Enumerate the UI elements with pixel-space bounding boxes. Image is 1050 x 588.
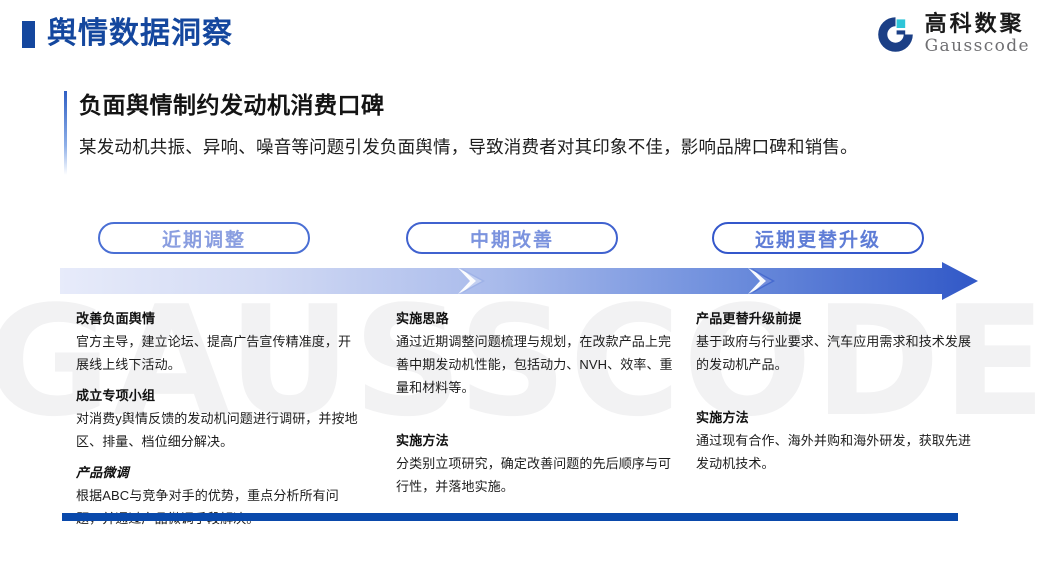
section-block: 改善负面舆情 官方主导，建立论坛、提高广告宣传精准度，开展线上线下活动。 [76,308,359,376]
brand-name-en: Gausscode [925,38,1030,55]
footer-accent-bar [62,513,958,521]
section-title: 产品更替升级前提 [696,308,979,329]
gausscode-logo-mark [875,14,916,55]
brand-logo-text: 高科数聚 Gausscode [925,13,1030,55]
section-body: 对消费y舆情反馈的发动机问题进行调研，并按地区、排量、档位细分解决。 [76,407,359,453]
stage-pill-label: 中期改善 [470,225,554,252]
stage-pill-long-term[interactable]: 远期更替升级 [712,222,924,254]
stage-pill-mid-term[interactable]: 中期改善 [406,222,618,254]
section-block: 产品更替升级前提 基于政府与行业要求、汽车应用需求和技术发展的发动机产品。 [696,308,979,376]
section-body: 官方主导，建立论坛、提高广告宣传精准度，开展线上线下活动。 [76,330,359,376]
section-body: 分类别立项研究，确定改善问题的先后顺序与可行性，并落地实施。 [396,452,679,498]
section-title: 成立专项小组 [76,385,359,406]
section-body: 基于政府与行业要求、汽车应用需求和技术发展的发动机产品。 [696,330,979,376]
header-bullet-icon [22,21,35,48]
intro-subtitle: 某发动机共振、异响、噪音等问题引发负面舆情，导致消费者对其印象不佳，影响品牌口碑… [79,134,974,160]
section-body: 通过近期调整问题梳理与规划，在改款产品上完善中期发动机性能，包括动力、NVH、效… [396,330,679,399]
brand-name-cn: 高科数聚 [925,13,1030,35]
intro-block: 负面舆情制约发动机消费口碑 某发动机共振、异响、噪音等问题引发负面舆情，导致消费… [64,88,974,160]
slide-header: 舆情数据洞察 高科数聚 Gausscode [0,0,1050,68]
timeline-arrow [58,262,980,304]
stage-pill-label: 远期更替升级 [755,225,881,252]
section-title: 改善负面舆情 [76,308,359,329]
column-long-term: 产品更替升级前提 基于政府与行业要求、汽车应用需求和技术发展的发动机产品。 实施… [696,308,979,484]
stage-pill-near-term[interactable]: 近期调整 [98,222,310,254]
section-block: 实施思路 通过近期调整问题梳理与规划，在改款产品上完善中期发动机性能，包括动力、… [396,308,679,399]
section-title: 实施方法 [396,430,679,451]
section-title: 实施思路 [396,308,679,329]
page-title: 舆情数据洞察 [47,15,233,53]
intro-title: 负面舆情制约发动机消费口碑 [79,88,974,122]
slide-canvas: GAUSSCODE 舆情数据洞察 高科数聚 Gausscode 负面舆情制约发动… [0,0,1050,588]
section-body: 通过现有合作、海外并购和海外研发，获取先进发动机技术。 [696,429,979,475]
stage-pill-label: 近期调整 [162,225,246,252]
column-mid-term: 实施思路 通过近期调整问题梳理与规划，在改款产品上完善中期发动机性能，包括动力、… [396,308,679,507]
column-near-term: 改善负面舆情 官方主导，建立论坛、提高广告宣传精准度，开展线上线下活动。 成立专… [76,308,359,539]
intro-accent-rule [64,91,67,175]
section-title: 产品微调 [76,462,359,483]
section-block: 成立专项小组 对消费y舆情反馈的发动机问题进行调研，并按地区、排量、档位细分解决… [76,385,359,453]
section-body: 根据ABC与竞争对手的优势，重点分析所有问题，并通过产品微调手段解决。 [76,484,359,530]
section-block: 实施方法 通过现有合作、海外并购和海外研发，获取先进发动机技术。 [696,407,979,475]
section-title: 实施方法 [696,407,979,428]
section-block: 实施方法 分类别立项研究，确定改善问题的先后顺序与可行性，并落地实施。 [396,430,679,498]
brand-logo: 高科数聚 Gausscode [875,13,1030,55]
